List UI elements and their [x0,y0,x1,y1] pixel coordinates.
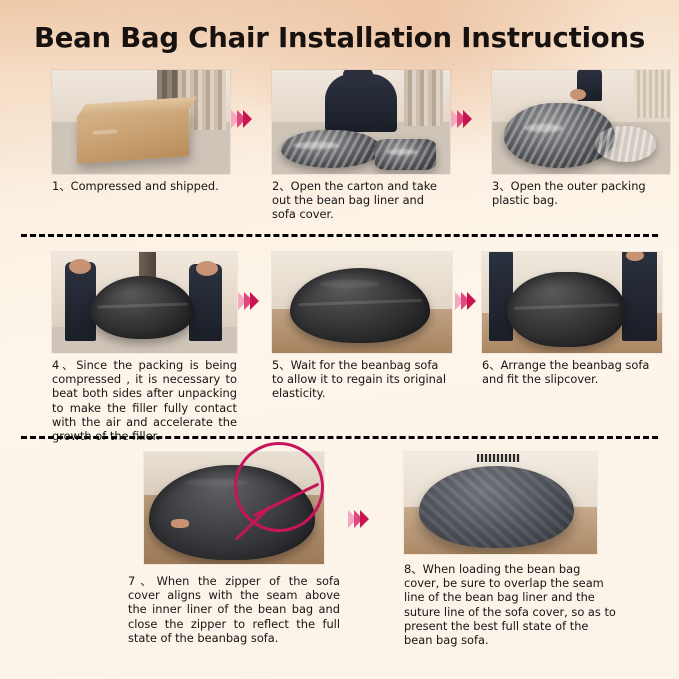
chevron-right-icon [360,510,369,528]
arrow-step-4-to-5 [238,292,256,310]
step-2-caption: 2、Open the carton and take out the bean … [272,179,450,222]
step-7: 7、When the zipper of the sofa cover alig… [128,452,340,645]
step-6-caption: 6、Arrange the beanbag sofa and fit the s… [482,358,662,386]
chevron-right-icon [463,110,472,128]
step-3: 3、Open the outer packing plastic bag. [492,70,670,207]
arrow-step-1-to-2 [231,110,249,128]
step-5: 5、Wait for the beanbag sofa to allow it … [272,252,452,401]
step-7-photo [144,452,324,564]
chevron-right-icon [467,292,476,310]
step-2-photo [272,70,450,174]
step-1-caption: 1、Compressed and shipped. [52,179,230,193]
chevron-right-icon [243,110,252,128]
step-1-photo [52,70,230,174]
step-7-caption: 7、When the zipper of the sofa cover alig… [128,574,340,645]
step-5-photo [272,252,452,353]
step-2: 2、Open the carton and take out the bean … [272,70,450,222]
arrow-step-5-to-6 [455,292,473,310]
step-3-caption: 3、Open the outer packing plastic bag. [492,179,670,207]
step-4: 4、Since the packing is being compressed … [52,252,237,443]
step-4-photo [52,252,237,353]
arrow-step-2-to-3 [451,110,469,128]
infographic-page: Bean Bag Chair Installation Instructions… [0,0,679,679]
step-6: 6、Arrange the beanbag sofa and fit the s… [482,252,662,386]
chevron-right-icon [250,292,259,310]
step-8: 8、When loading the bean bag cover, be su… [404,452,619,647]
step-4-caption: 4、Since the packing is being compressed … [52,358,237,443]
step-6-photo [482,252,662,353]
step-8-caption: 8、When loading the bean bag cover, be su… [404,562,619,647]
step-3-photo [492,70,670,174]
page-title: Bean Bag Chair Installation Instructions [0,22,679,54]
step-1: 1、Compressed and shipped. [52,70,230,193]
step-8-photo [404,452,597,554]
row-divider-1 [21,234,658,237]
arrow-step-7-to-8 [348,510,366,528]
step-5-caption: 5、Wait for the beanbag sofa to allow it … [272,358,452,401]
